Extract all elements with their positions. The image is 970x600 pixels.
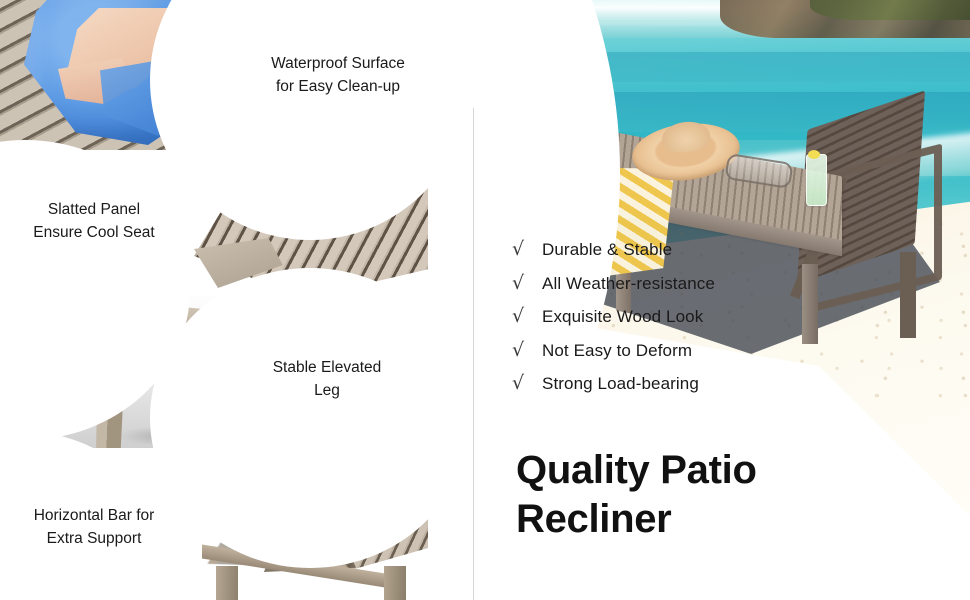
benefit-label: Not Easy to Deform (542, 341, 692, 361)
benefit-label: All Weather-resistance (542, 274, 715, 294)
feature-label-waterproof: Waterproof Surface for Easy Clean-up (248, 52, 428, 98)
benefit-item: √ Exquisite Wood Look (512, 306, 892, 327)
headland-vegetation (810, 0, 970, 20)
drink-glass (806, 154, 827, 206)
check-icon: √ (512, 340, 542, 360)
frame-leg-left (216, 566, 238, 600)
benefit-label: Strong Load-bearing (542, 374, 699, 394)
infographic-canvas: Waterproof Surface for Easy Clean-up Sla… (0, 0, 970, 600)
check-icon: √ (512, 306, 542, 326)
chair-leg-rear (900, 252, 916, 338)
check-icon: √ (512, 373, 542, 393)
benefit-item: √ Strong Load-bearing (512, 373, 892, 394)
product-headline: Quality Patio Recliner (516, 446, 916, 544)
photo-mask-lobe (150, 268, 470, 568)
benefit-label: Durable & Stable (542, 240, 672, 260)
benefit-item: √ Durable & Stable (512, 239, 892, 260)
benefit-item: √ All Weather-resistance (512, 273, 892, 294)
lemon-slice (808, 150, 820, 159)
feature-label-slatted-panel: Slatted Panel Ensure Cool Seat (20, 198, 168, 244)
benefit-item: √ Not Easy to Deform (512, 340, 892, 361)
benefits-list: √ Durable & Stable √ All Weather-resista… (512, 239, 892, 407)
feature-label-horizontal-bar: Horizontal Bar for Extra Support (18, 504, 170, 550)
benefit-label: Exquisite Wood Look (542, 307, 703, 327)
frame-leg-right (384, 566, 406, 600)
check-icon: √ (512, 273, 542, 293)
feature-label-elevated-leg: Stable Elevated Leg (252, 356, 402, 402)
check-icon: √ (512, 239, 542, 259)
vertical-divider (473, 108, 474, 600)
